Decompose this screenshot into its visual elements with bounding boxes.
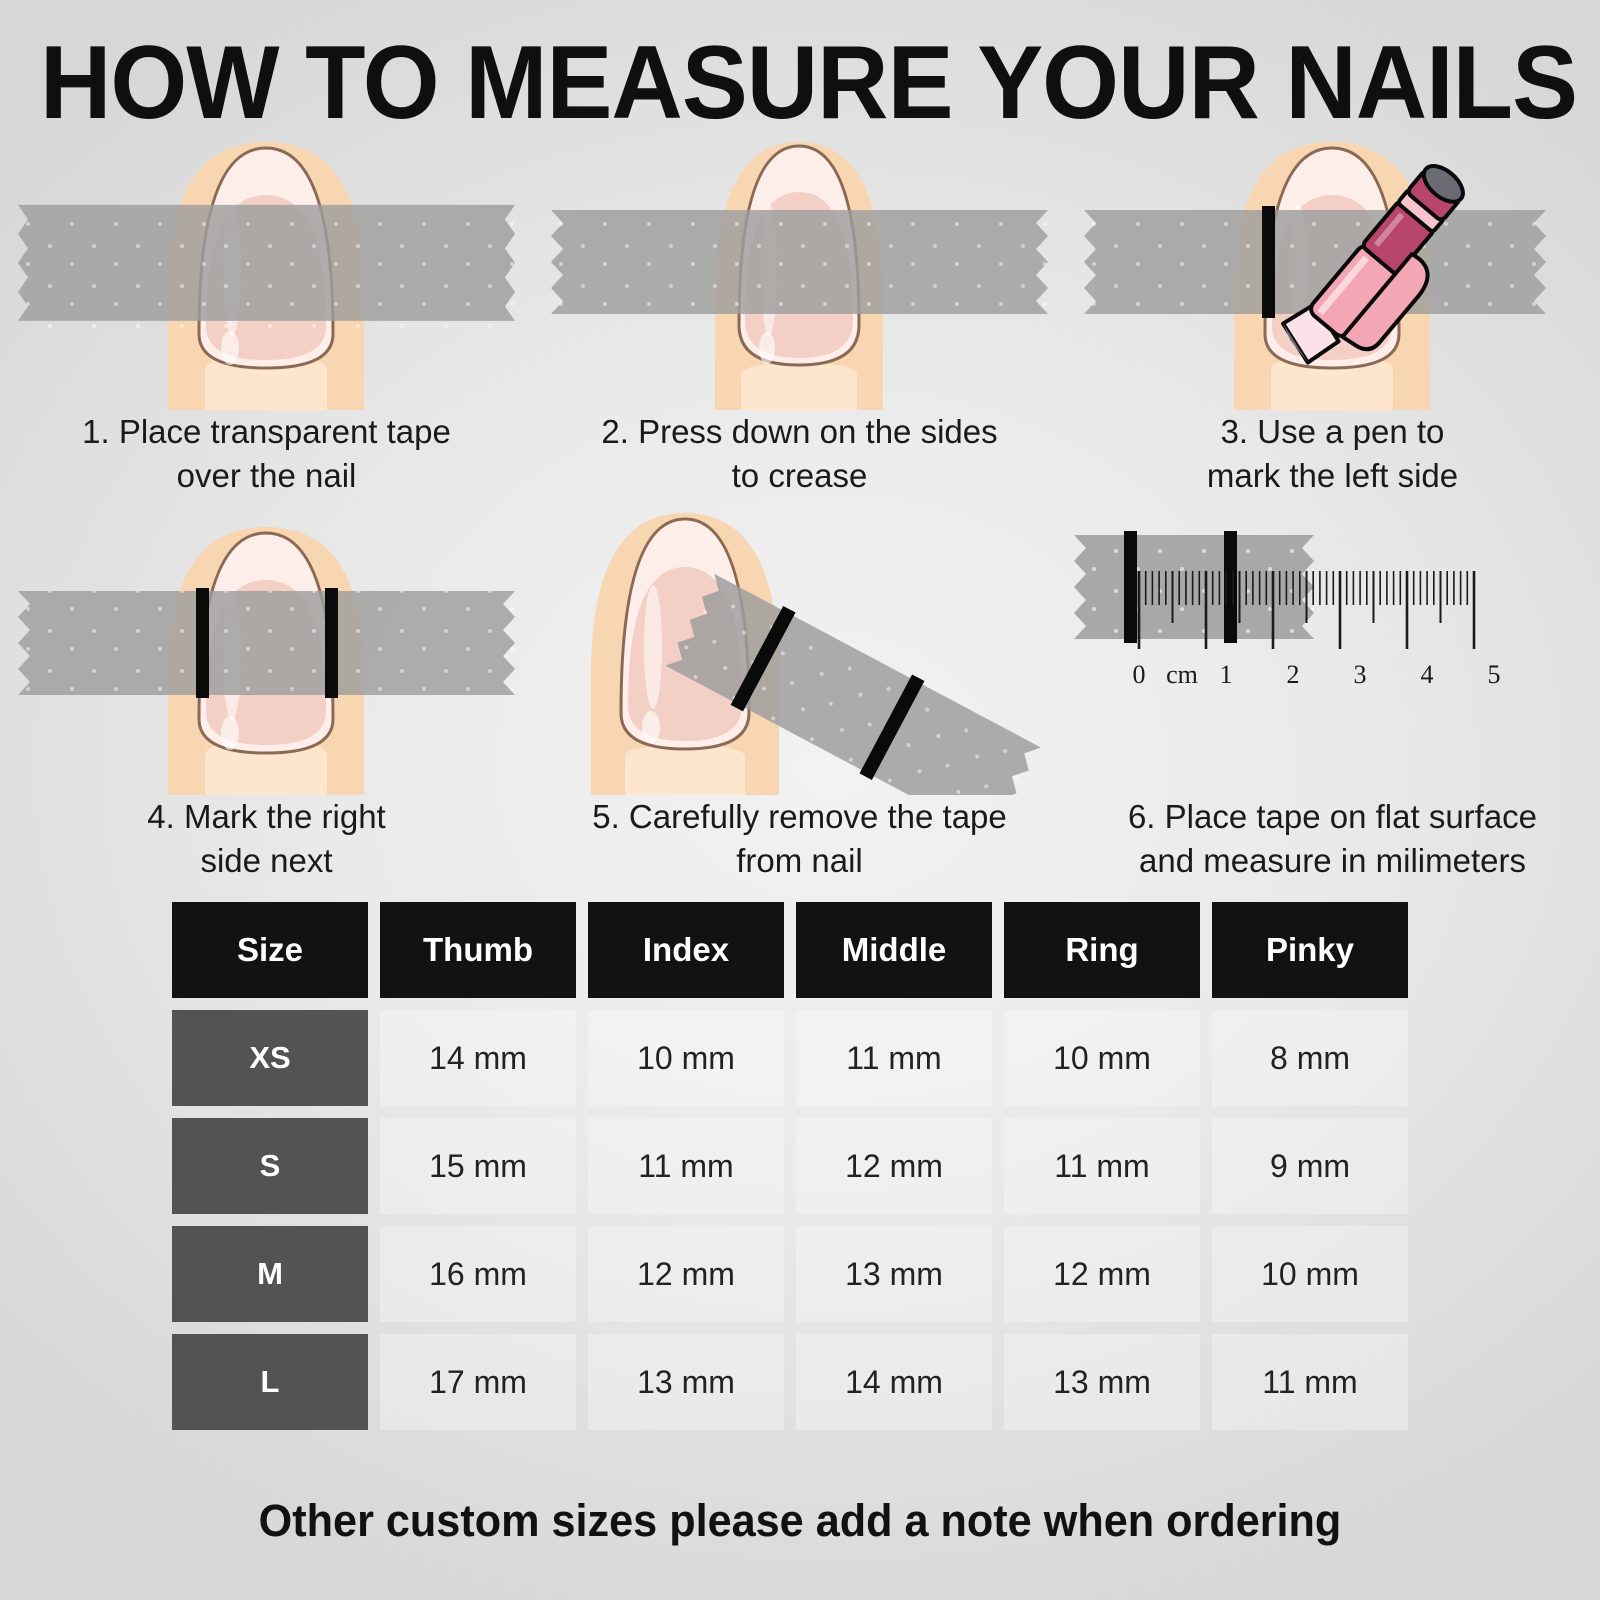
step-2: 2. Press down on the sides to crease — [533, 120, 1066, 505]
table-header-size: Size — [172, 902, 368, 998]
step-2-line1: 2. Press down on the sides — [601, 413, 997, 450]
table-cell-ring: 10 mm — [1004, 1010, 1200, 1106]
step-4-caption: 4. Mark the right side next — [10, 795, 523, 882]
step-2-caption: 2. Press down on the sides to crease — [543, 410, 1056, 497]
right-mark — [325, 588, 338, 698]
step-3-line1: 3. Use a pen to — [1221, 413, 1445, 450]
step-4: 4. Mark the right side next — [0, 505, 533, 890]
table-cell-thumb: 15 mm — [380, 1118, 576, 1214]
step-3-caption: 3. Use a pen to mark the left side — [1076, 410, 1589, 497]
tape-strip — [1074, 531, 1314, 643]
table-cell-ring: 11 mm — [1004, 1118, 1200, 1214]
ruler-labels: 0 cm 1 2 3 4 5 — [1133, 660, 1501, 689]
ruler-tick-0: 0 — [1133, 660, 1146, 689]
steps-section: 1. Place transparent tape over the nail — [0, 120, 1600, 890]
infographic-page: HOW TO MEASURE YOUR NAILS — [0, 0, 1600, 1600]
table-cell-size: S — [172, 1118, 368, 1214]
ruler-tick-5: 5 — [1488, 660, 1501, 689]
table-header-thumb: Thumb — [380, 902, 576, 998]
ruler-tick-4: 4 — [1421, 660, 1434, 689]
table-cell-thumb: 16 mm — [380, 1226, 576, 1322]
table-cell-pinky: 10 mm — [1212, 1226, 1408, 1322]
ruler-unit-label: cm — [1166, 660, 1198, 689]
finger-creased-tape-icon — [533, 120, 1066, 410]
step-5: 5. Carefully remove the tape from nail — [533, 505, 1066, 890]
left-mark — [1124, 531, 1137, 643]
step-6-illustration: 0 cm 1 2 3 4 5 — [1066, 505, 1599, 795]
finger-tape-two-marks-icon — [0, 505, 533, 795]
table-cell-middle: 14 mm — [796, 1334, 992, 1430]
table-row: M 16 mm 12 mm 13 mm 12 mm 10 mm — [172, 1226, 1442, 1322]
table-cell-size: L — [172, 1334, 368, 1430]
table-cell-pinky: 11 mm — [1212, 1334, 1408, 1430]
table-cell-size: M — [172, 1226, 368, 1322]
tape-on-ruler-icon: 0 cm 1 2 3 4 5 — [1066, 505, 1599, 795]
step-5-caption: 5. Carefully remove the tape from nail — [543, 795, 1056, 882]
tape-strip — [18, 591, 515, 695]
table-header-index: Index — [588, 902, 784, 998]
tape-strip — [18, 205, 515, 331]
table-cell-thumb: 14 mm — [380, 1010, 576, 1106]
table-cell-index: 12 mm — [588, 1226, 784, 1322]
table-header-row: Size Thumb Index Middle Ring Pinky — [172, 902, 1442, 998]
table-header-ring: Ring — [1004, 902, 1200, 998]
size-chart-table: Size Thumb Index Middle Ring Pinky XS 14… — [172, 902, 1442, 1442]
step-5-line2: from nail — [736, 842, 863, 879]
table-row: XS 14 mm 10 mm 11 mm 10 mm 8 mm — [172, 1010, 1442, 1106]
step-2-line2: to crease — [732, 457, 868, 494]
step-1: 1. Place transparent tape over the nail — [0, 120, 533, 505]
step-6-line2: and measure in milimeters — [1139, 842, 1526, 879]
table-cell-middle: 13 mm — [796, 1226, 992, 1322]
table-header-pinky: Pinky — [1212, 902, 1408, 998]
table-cell-ring: 13 mm — [1004, 1334, 1200, 1430]
table-row: S 15 mm 11 mm 12 mm 11 mm 9 mm — [172, 1118, 1442, 1214]
step-1-illustration — [0, 120, 533, 410]
left-mark — [196, 588, 209, 698]
step-5-illustration — [533, 505, 1066, 795]
table-cell-index: 10 mm — [588, 1010, 784, 1106]
table-cell-index: 13 mm — [588, 1334, 784, 1430]
step-3-line2: mark the left side — [1207, 457, 1458, 494]
tape-peeled-off-nail-icon — [533, 505, 1066, 795]
table-row: L 17 mm 13 mm 14 mm 13 mm 11 mm — [172, 1334, 1442, 1430]
step-4-line1: 4. Mark the right — [147, 798, 385, 835]
ruler-tick-3: 3 — [1354, 660, 1367, 689]
table-cell-size: XS — [172, 1010, 368, 1106]
tape-strip — [551, 210, 1048, 314]
step-6: 0 cm 1 2 3 4 5 6. Place tape on flat sur… — [1066, 505, 1599, 890]
step-5-line1: 5. Carefully remove the tape — [592, 798, 1007, 835]
step-6-line1: 6. Place tape on flat surface — [1128, 798, 1537, 835]
table-cell-pinky: 9 mm — [1212, 1118, 1408, 1214]
finger-with-tape-icon — [0, 120, 533, 410]
ruler-tick-2: 2 — [1287, 660, 1300, 689]
left-mark — [1262, 206, 1275, 318]
finger-tape-pen-left-mark-icon — [1066, 120, 1599, 410]
table-cell-index: 11 mm — [588, 1118, 784, 1214]
step-4-line2: side next — [200, 842, 332, 879]
table-cell-middle: 12 mm — [796, 1118, 992, 1214]
step-6-caption: 6. Place tape on flat surface and measur… — [1076, 795, 1589, 882]
table-cell-thumb: 17 mm — [380, 1334, 576, 1430]
ruler-tick-1: 1 — [1220, 660, 1233, 689]
steps-row-bottom: 4. Mark the right side next — [0, 505, 1600, 890]
table-cell-ring: 12 mm — [1004, 1226, 1200, 1322]
step-4-illustration — [0, 505, 533, 795]
step-3-illustration — [1066, 120, 1599, 410]
step-1-line2: over the nail — [177, 457, 357, 494]
step-3: 3. Use a pen to mark the left side — [1066, 120, 1599, 505]
step-2-illustration — [533, 120, 1066, 410]
steps-row-top: 1. Place transparent tape over the nail — [0, 120, 1600, 505]
table-cell-middle: 11 mm — [796, 1010, 992, 1106]
table-header-middle: Middle — [796, 902, 992, 998]
table-cell-pinky: 8 mm — [1212, 1010, 1408, 1106]
step-1-caption: 1. Place transparent tape over the nail — [10, 410, 523, 497]
footer-note: Other custom sizes please add a note whe… — [32, 1495, 1568, 1547]
step-1-line1: 1. Place transparent tape — [82, 413, 451, 450]
